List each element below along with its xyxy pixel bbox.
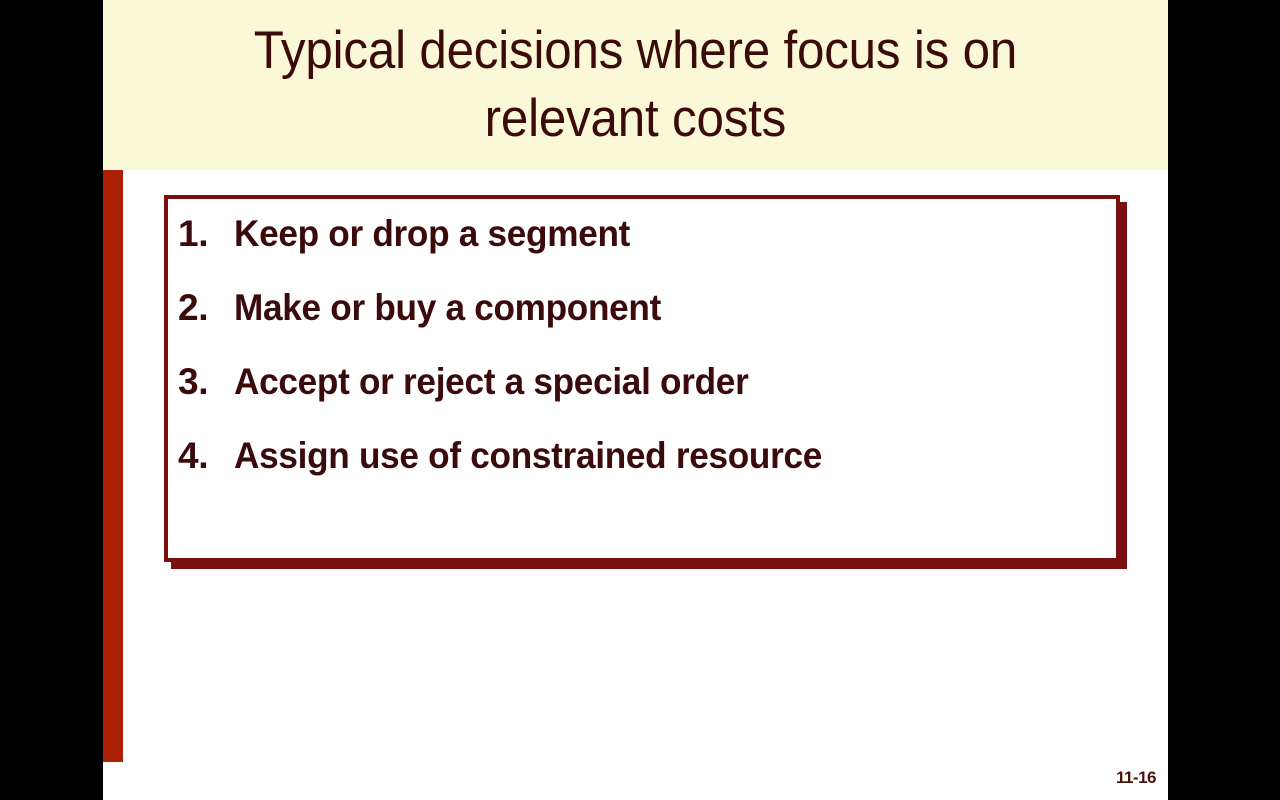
list-item-label: Keep or drop a segment [234, 213, 1055, 255]
decision-list: 1. Keep or drop a segment 2. Make or buy… [168, 199, 1116, 558]
slide-frame: Typical decisions where focus is on rele… [0, 0, 1280, 800]
list-item: 4. Assign use of constrained resource [178, 435, 1098, 477]
title-banner: Typical decisions where focus is on rele… [103, 0, 1168, 170]
list-item: 2. Make or buy a component [178, 287, 1098, 329]
decision-list-box: 1. Keep or drop a segment 2. Make or buy… [164, 195, 1120, 562]
page-number: 11-16 [1116, 768, 1156, 788]
left-accent-bar [103, 170, 123, 762]
list-item-label: Assign use of constrained resource [234, 435, 1055, 477]
list-item-number: 4. [178, 435, 234, 477]
list-item: 3. Accept or reject a special order [178, 361, 1098, 403]
list-item: 1. Keep or drop a segment [178, 213, 1098, 255]
list-item-label: Accept or reject a special order [234, 361, 1055, 403]
list-item-number: 2. [178, 287, 234, 329]
list-item-number: 3. [178, 361, 234, 403]
list-item-label: Make or buy a component [234, 287, 1055, 329]
slide-canvas: Typical decisions where focus is on rele… [103, 0, 1168, 800]
list-item-number: 1. [178, 213, 234, 255]
page-title: Typical decisions where focus is on rele… [254, 17, 1017, 153]
